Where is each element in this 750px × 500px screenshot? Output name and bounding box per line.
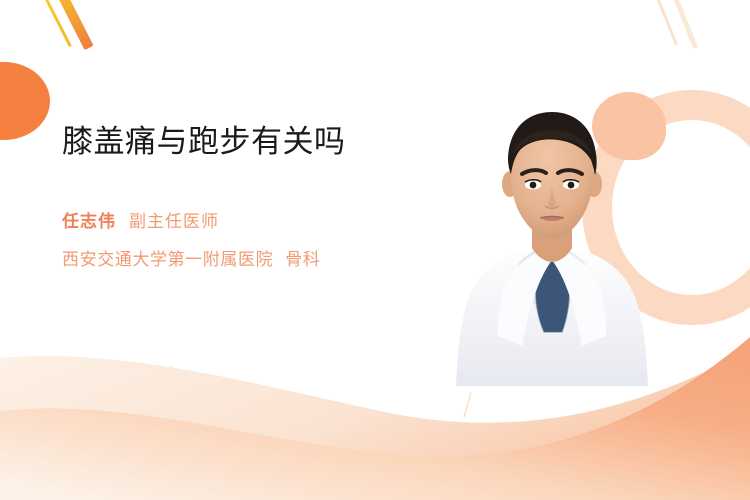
doctor-row: 任志伟 副主任医师 bbox=[62, 207, 422, 232]
wave-decoration bbox=[0, 325, 750, 500]
department-name: 骨科 bbox=[285, 245, 320, 270]
orange-circle-decoration bbox=[0, 62, 50, 140]
doctor-name: 任志伟 bbox=[62, 207, 116, 232]
diagonal-stripe-cream-a-icon bbox=[652, 0, 678, 45]
text-block: 膝盖痛与跑步有关吗 任志伟 副主任医师 西安交通大学第一附属医院 骨科 bbox=[62, 122, 422, 270]
peach-blob-decoration bbox=[592, 92, 666, 160]
hospital-name: 西安交通大学第一附属医院 bbox=[62, 245, 273, 270]
credentials: 任志伟 副主任医师 西安交通大学第一附属医院 骨科 bbox=[62, 207, 422, 270]
hospital-row: 西安交通大学第一附属医院 骨科 bbox=[62, 245, 422, 270]
page-title: 膝盖痛与跑步有关吗 bbox=[62, 122, 422, 163]
diagonal-stripe-orange-icon bbox=[52, 0, 94, 50]
diagonal-stripe-cream-b-icon bbox=[668, 0, 698, 49]
video-cover-card: 膝盖痛与跑步有关吗 任志伟 副主任医师 西安交通大学第一附属医院 骨科 bbox=[0, 0, 750, 500]
peach-ring-decoration bbox=[582, 90, 750, 325]
doctor-title: 副主任医师 bbox=[129, 207, 219, 232]
diagonal-stripe-yellow-icon bbox=[41, 0, 72, 47]
